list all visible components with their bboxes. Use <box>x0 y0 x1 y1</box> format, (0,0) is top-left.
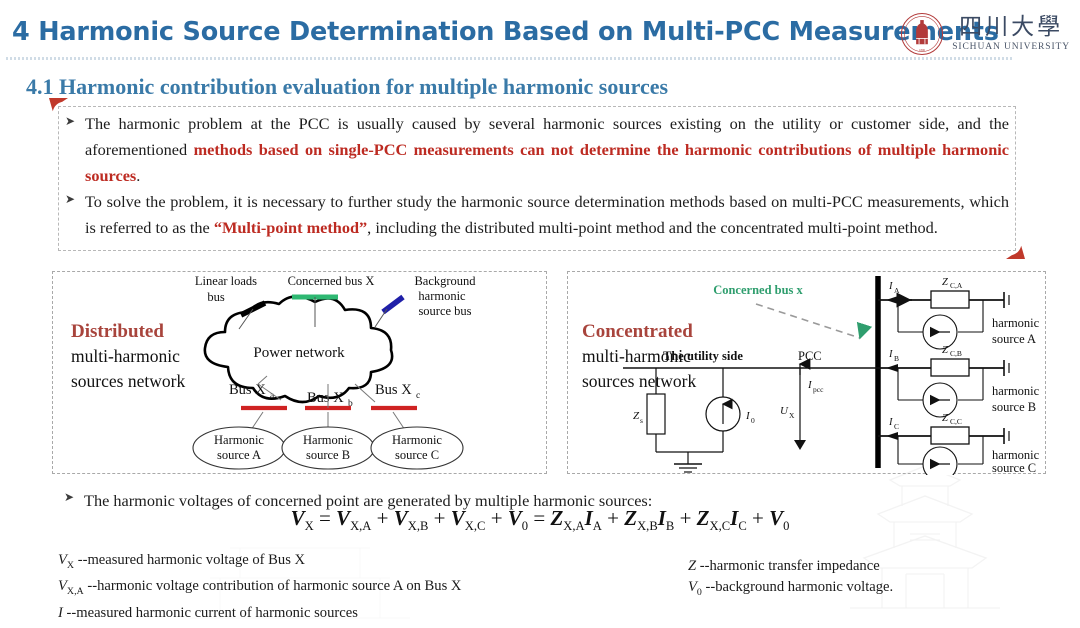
svg-text:bus: bus <box>207 290 225 304</box>
svg-text:X: X <box>789 411 795 420</box>
svg-text:C,C: C,C <box>950 417 962 426</box>
slide-header: 4 Harmonic Source Determination Based on… <box>0 0 1080 62</box>
legend-item-vxa-text: --harmonic voltage contribution of harmo… <box>84 578 462 594</box>
svg-text:Z: Z <box>633 410 640 422</box>
concentrated-network-diagram: Concerned bus x The utility side PCC Z s… <box>568 272 1047 475</box>
svg-text:Background: Background <box>414 274 476 288</box>
svg-text:pcc: pcc <box>813 385 824 394</box>
svg-text:0: 0 <box>751 416 755 425</box>
corner-accent-bottom-right <box>1006 240 1025 259</box>
svg-text:source C: source C <box>992 461 1036 475</box>
bullet-item-1: ➤ The harmonic problem at the PCC is usu… <box>65 111 1009 189</box>
harmonic-voltage-equation: VX = VX,A + VX,B + VX,C + V0 = ZX,AIA + … <box>0 506 1080 534</box>
svg-text:B: B <box>894 354 899 363</box>
legend-item-v0: V0 --background harmonic voltage. <box>688 577 893 603</box>
bullet-2-emphasis: “Multi-point method” <box>214 218 367 237</box>
svg-text:source B: source B <box>306 448 350 462</box>
bullet-1-emphasis: methods based on single-PCC measurements… <box>85 140 1009 185</box>
university-logo: 1896 四川大學 SICHUAN UNIVERSITY <box>900 10 1070 58</box>
title-divider <box>6 57 1014 60</box>
logo-english-name: SICHUAN UNIVERSITY <box>952 42 1070 52</box>
svg-text:harmonic: harmonic <box>418 289 466 303</box>
legend-item-v0-text: --background harmonic voltage. <box>702 579 893 595</box>
distributed-network-panel: Distributed multi-harmonic sources netwo… <box>52 271 547 474</box>
svg-text:PCC: PCC <box>798 349 822 363</box>
bullet-callout-box: ➤ The harmonic problem at the PCC is usu… <box>58 106 1016 251</box>
svg-text:harmonic: harmonic <box>992 316 1040 330</box>
distributed-network-diagram: Power network Linear loads bus Concerned… <box>53 272 548 475</box>
svg-text:Power network: Power network <box>253 345 345 361</box>
svg-text:Harmonic: Harmonic <box>214 433 264 447</box>
svg-text:source B: source B <box>992 400 1036 414</box>
svg-text:Bus X: Bus X <box>307 390 344 406</box>
bullet-item-1-text: The harmonic problem at the PCC is usual… <box>85 111 1009 189</box>
svg-text:Concerned bus x: Concerned bus x <box>713 283 803 297</box>
svg-text:Z: Z <box>942 345 948 356</box>
svg-text:c: c <box>416 391 420 401</box>
concentrated-network-panel: Concentrated multi-harmonic sources netw… <box>567 271 1046 474</box>
svg-text:source C: source C <box>395 448 439 462</box>
svg-text:I: I <box>888 349 893 360</box>
svg-text:Bus X: Bus X <box>375 382 412 398</box>
svg-text:C: C <box>894 422 899 431</box>
svg-text:A: A <box>894 286 900 295</box>
section-subtitle: 4.1 Harmonic contribution evaluation for… <box>26 74 668 100</box>
legend-item-i: I --measured harmonic current of harmoni… <box>58 603 461 624</box>
bullet-item-2-text: To solve the problem, it is necessary to… <box>85 189 1009 241</box>
svg-text:C,B: C,B <box>950 349 962 358</box>
svg-text:source A: source A <box>992 332 1036 346</box>
svg-text:Z: Z <box>942 413 948 424</box>
svg-text:U: U <box>780 405 789 417</box>
svg-text:s: s <box>640 416 643 425</box>
bullet-1-seg-3: . <box>136 166 140 185</box>
seal-icon: 1896 <box>900 12 944 56</box>
svg-text:1896: 1896 <box>919 48 926 52</box>
svg-text:Linear loads: Linear loads <box>195 274 257 288</box>
bullet-item-2: ➤ To solve the problem, it is necessary … <box>65 189 1009 241</box>
svg-text:I: I <box>888 281 893 292</box>
legend-item-vx-text: --measured harmonic voltage of Bus X <box>74 552 305 568</box>
legend-item-z: Z --harmonic transfer impedance <box>688 556 893 577</box>
svg-text:The utility side: The utility side <box>663 349 743 363</box>
svg-text:Z: Z <box>942 277 948 288</box>
legend-item-i-text: --measured harmonic current of harmonic … <box>63 605 358 621</box>
svg-text:Harmonic: Harmonic <box>303 433 353 447</box>
svg-text:Harmonic: Harmonic <box>392 433 442 447</box>
svg-text:I: I <box>888 417 893 428</box>
svg-text:Concerned bus X: Concerned bus X <box>288 274 375 288</box>
svg-text:Bus X: Bus X <box>229 382 266 398</box>
page-title: 4 Harmonic Source Determination Based on… <box>12 17 999 47</box>
svg-text:source bus: source bus <box>418 304 471 318</box>
bullet-2-seg-3: , including the distributed multi-point … <box>367 218 938 237</box>
bullet-arrow-icon: ➤ <box>65 111 85 189</box>
logo-chinese-name: 四川大學 <box>959 16 1063 39</box>
legend-item-vx: VX --measured harmonic voltage of Bus X <box>58 550 461 576</box>
svg-text:C,A: C,A <box>950 281 963 290</box>
svg-text:harmonic: harmonic <box>992 448 1040 462</box>
legend-right-column: Z --harmonic transfer impedance V0 --bac… <box>688 556 893 603</box>
svg-text:source A: source A <box>217 448 261 462</box>
svg-text:harmonic: harmonic <box>992 384 1040 398</box>
legend-left-column: VX --measured harmonic voltage of Bus X … <box>58 550 461 623</box>
legend-item-vxa: VX,A --harmonic voltage contribution of … <box>58 576 461 602</box>
legend-item-z-text: --harmonic transfer impedance <box>696 558 880 574</box>
bullet-arrow-icon: ➤ <box>65 189 85 241</box>
